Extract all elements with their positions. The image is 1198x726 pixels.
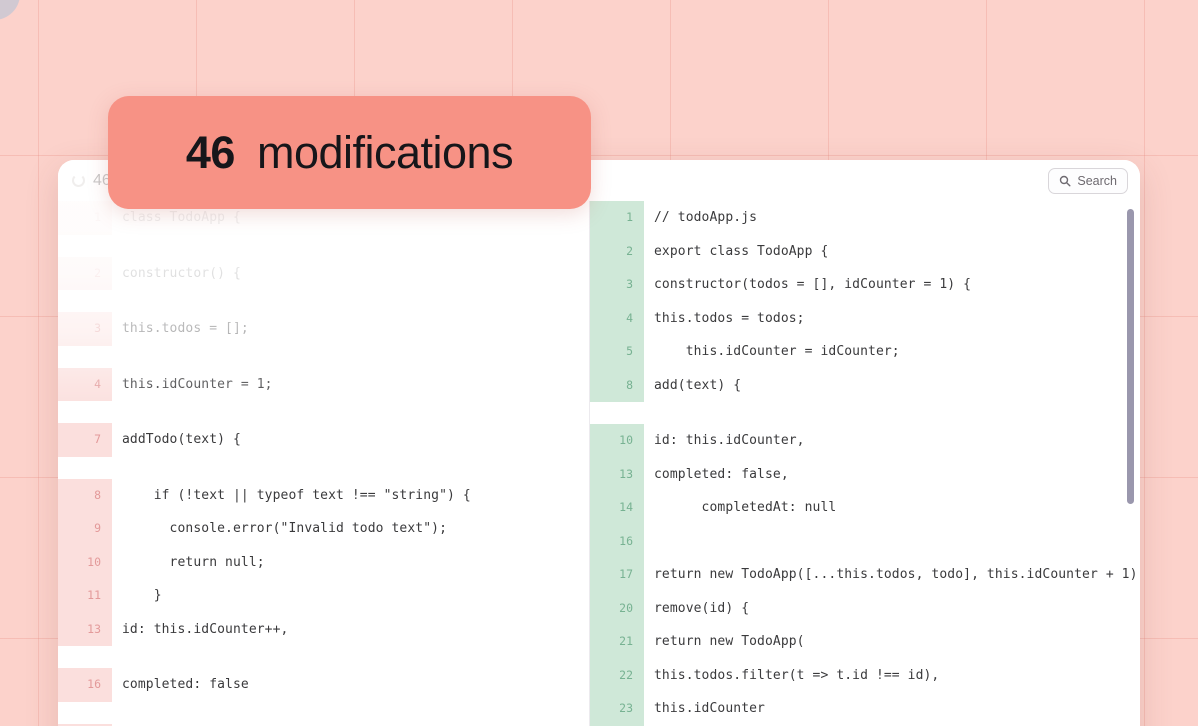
- line-number: 13: [58, 613, 112, 647]
- code-line[interactable]: 9 console.error("Invalid todo text");: [58, 512, 589, 546]
- code-line[interactable]: 10 return null;: [58, 546, 589, 580]
- code-line[interactable]: 23this.idCounter: [590, 692, 1140, 726]
- line-number: 13: [590, 458, 644, 492]
- code-line[interactable]: 17return new TodoApp([...this.todos, tod…: [590, 558, 1140, 592]
- code-text: this.idCounter: [644, 692, 1140, 726]
- line-number: 4: [58, 368, 112, 402]
- banner-count: 46: [186, 127, 235, 179]
- code-text: completedAt: null: [644, 491, 1140, 525]
- code-text: this.idCounter = idCounter;: [644, 335, 1140, 369]
- code-line[interactable]: 1// todoApp.js: [590, 201, 1140, 235]
- code-text: export class TodoApp {: [644, 235, 1140, 269]
- code-text: constructor() {: [112, 257, 589, 291]
- code-text: if (!text || typeof text !== "string") {: [112, 479, 589, 513]
- line-number: 10: [58, 546, 112, 580]
- line-number: 16: [590, 525, 644, 559]
- code-text: id: this.idCounter,: [644, 424, 1140, 458]
- search-icon: [1059, 175, 1071, 187]
- line-number: 2: [590, 235, 644, 269]
- code-line[interactable]: [58, 646, 589, 668]
- diff-pane-new[interactable]: 1// todoApp.js2export class TodoApp {3co…: [590, 201, 1140, 726]
- code-line[interactable]: 22this.todos.filter(t => t.id !== id),: [590, 659, 1140, 693]
- code-line[interactable]: 16completed: false: [58, 668, 589, 702]
- code-line[interactable]: 13id: this.idCounter++,: [58, 613, 589, 647]
- line-number: 1: [590, 201, 644, 235]
- diff-lines-new: 1// todoApp.js2export class TodoApp {3co…: [590, 201, 1140, 726]
- line-number: 23: [590, 692, 644, 726]
- corner-notch: [0, 0, 20, 20]
- code-text: return new TodoApp(: [644, 625, 1140, 659]
- line-number: 21: [590, 625, 644, 659]
- code-text: remove(id) {: [644, 592, 1140, 626]
- line-number: 10: [590, 424, 644, 458]
- code-line[interactable]: 16: [590, 525, 1140, 559]
- vertical-scrollbar[interactable]: [1127, 209, 1134, 726]
- code-text: this.todos = todos;: [644, 302, 1140, 336]
- code-line[interactable]: 4this.todos = todos;: [590, 302, 1140, 336]
- code-line[interactable]: 13completed: false,: [590, 458, 1140, 492]
- code-text: // todoApp.js: [644, 201, 1140, 235]
- code-line[interactable]: 8add(text) {: [590, 369, 1140, 403]
- code-text: id: this.idCounter++,: [112, 613, 589, 647]
- code-text: completed: false: [112, 668, 589, 702]
- scrollbar-thumb[interactable]: [1127, 209, 1134, 504]
- code-line[interactable]: 10id: this.idCounter,: [590, 424, 1140, 458]
- code-line[interactable]: [58, 457, 589, 479]
- code-text: this.idCounter = 1;: [112, 368, 589, 402]
- code-text: }: [112, 579, 589, 613]
- code-text: completed: false,: [644, 458, 1140, 492]
- diff-body: 1class TodoApp {2constructor() {3this.to…: [58, 201, 1140, 726]
- line-number: 7: [58, 423, 112, 457]
- code-line[interactable]: 8 if (!text || typeof text !== "string")…: [58, 479, 589, 513]
- code-text: console.error("Invalid todo text");: [112, 512, 589, 546]
- line-number: 17: [590, 558, 644, 592]
- search-button-label: Search: [1077, 174, 1117, 188]
- code-line[interactable]: [58, 346, 589, 368]
- code-line[interactable]: [58, 702, 589, 724]
- diff-lines-old: 1class TodoApp {2constructor() {3this.to…: [58, 201, 589, 726]
- code-line[interactable]: 14 completedAt: null: [590, 491, 1140, 525]
- search-button[interactable]: Search: [1048, 168, 1128, 194]
- line-number: 4: [590, 302, 644, 336]
- code-line[interactable]: [58, 235, 589, 257]
- line-number: 3: [58, 312, 112, 346]
- line-number: 1: [58, 201, 112, 235]
- line-number: 8: [590, 369, 644, 403]
- line-number: 3: [590, 268, 644, 302]
- code-line[interactable]: 4this.idCounter = 1;: [58, 368, 589, 402]
- line-number: 5: [590, 335, 644, 369]
- code-line[interactable]: 5 this.idCounter = idCounter;: [590, 335, 1140, 369]
- code-line[interactable]: 2constructor() {: [58, 257, 589, 291]
- line-number: 11: [58, 579, 112, 613]
- code-line[interactable]: [58, 401, 589, 423]
- code-text: this.todos = [];: [112, 312, 589, 346]
- page-backdrop: 46 Search 1class TodoApp {2constructor()…: [0, 0, 1198, 726]
- code-line[interactable]: 20remove(id) {: [590, 592, 1140, 626]
- code-line[interactable]: 11 }: [58, 579, 589, 613]
- code-line[interactable]: [58, 290, 589, 312]
- line-number: 16: [58, 668, 112, 702]
- spinner-icon: [72, 174, 85, 187]
- line-number: 2: [58, 257, 112, 291]
- line-number: 14: [590, 491, 644, 525]
- code-line[interactable]: [590, 402, 1140, 424]
- diff-pane-old[interactable]: 1class TodoApp {2constructor() {3this.to…: [58, 201, 590, 726]
- line-number: 20: [590, 592, 644, 626]
- code-text: return new TodoApp([...this.todos, todo]…: [644, 558, 1140, 592]
- line-number: 9: [58, 512, 112, 546]
- code-line[interactable]: 3constructor(todos = [], idCounter = 1) …: [590, 268, 1140, 302]
- code-line[interactable]: 3this.todos = [];: [58, 312, 589, 346]
- code-text: constructor(todos = [], idCounter = 1) {: [644, 268, 1140, 302]
- titlebar-status: 46: [72, 172, 111, 190]
- code-line[interactable]: 21return new TodoApp(: [590, 625, 1140, 659]
- line-number: 22: [590, 659, 644, 693]
- banner-label: modifications: [257, 127, 513, 179]
- code-line[interactable]: 7addTodo(text) {: [58, 423, 589, 457]
- modifications-banner: 46 modifications: [108, 96, 591, 209]
- code-text: addTodo(text) {: [112, 423, 589, 457]
- code-text: add(text) {: [644, 369, 1140, 403]
- code-line[interactable]: 2export class TodoApp {: [590, 235, 1140, 269]
- code-text: this.todos.filter(t => t.id !== id),: [644, 659, 1140, 693]
- diff-viewer-window: 46 Search 1class TodoApp {2constructor()…: [58, 160, 1140, 726]
- line-number: 8: [58, 479, 112, 513]
- code-text: return null;: [112, 546, 589, 580]
